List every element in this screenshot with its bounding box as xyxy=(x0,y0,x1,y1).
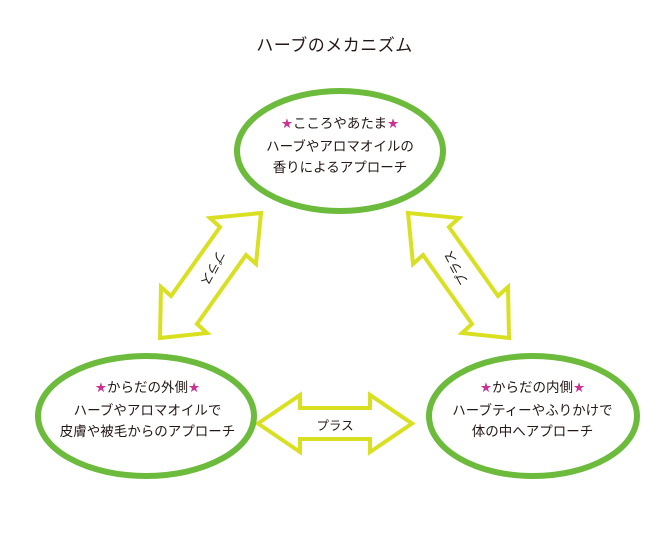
node-ellipse-left xyxy=(38,356,254,476)
node-ellipse-right xyxy=(429,356,637,476)
node-ellipse-top xyxy=(237,91,443,211)
diagram-vector-layer xyxy=(0,0,669,551)
arrow-top-left xyxy=(160,213,261,338)
arrow-left-right xyxy=(258,395,412,452)
arrow-top-right xyxy=(408,213,509,338)
diagram-canvas: ハーブのメカニズム ★こころやあたま★ ハーブやアロマオイルの 香りによるアプロ… xyxy=(0,0,669,551)
